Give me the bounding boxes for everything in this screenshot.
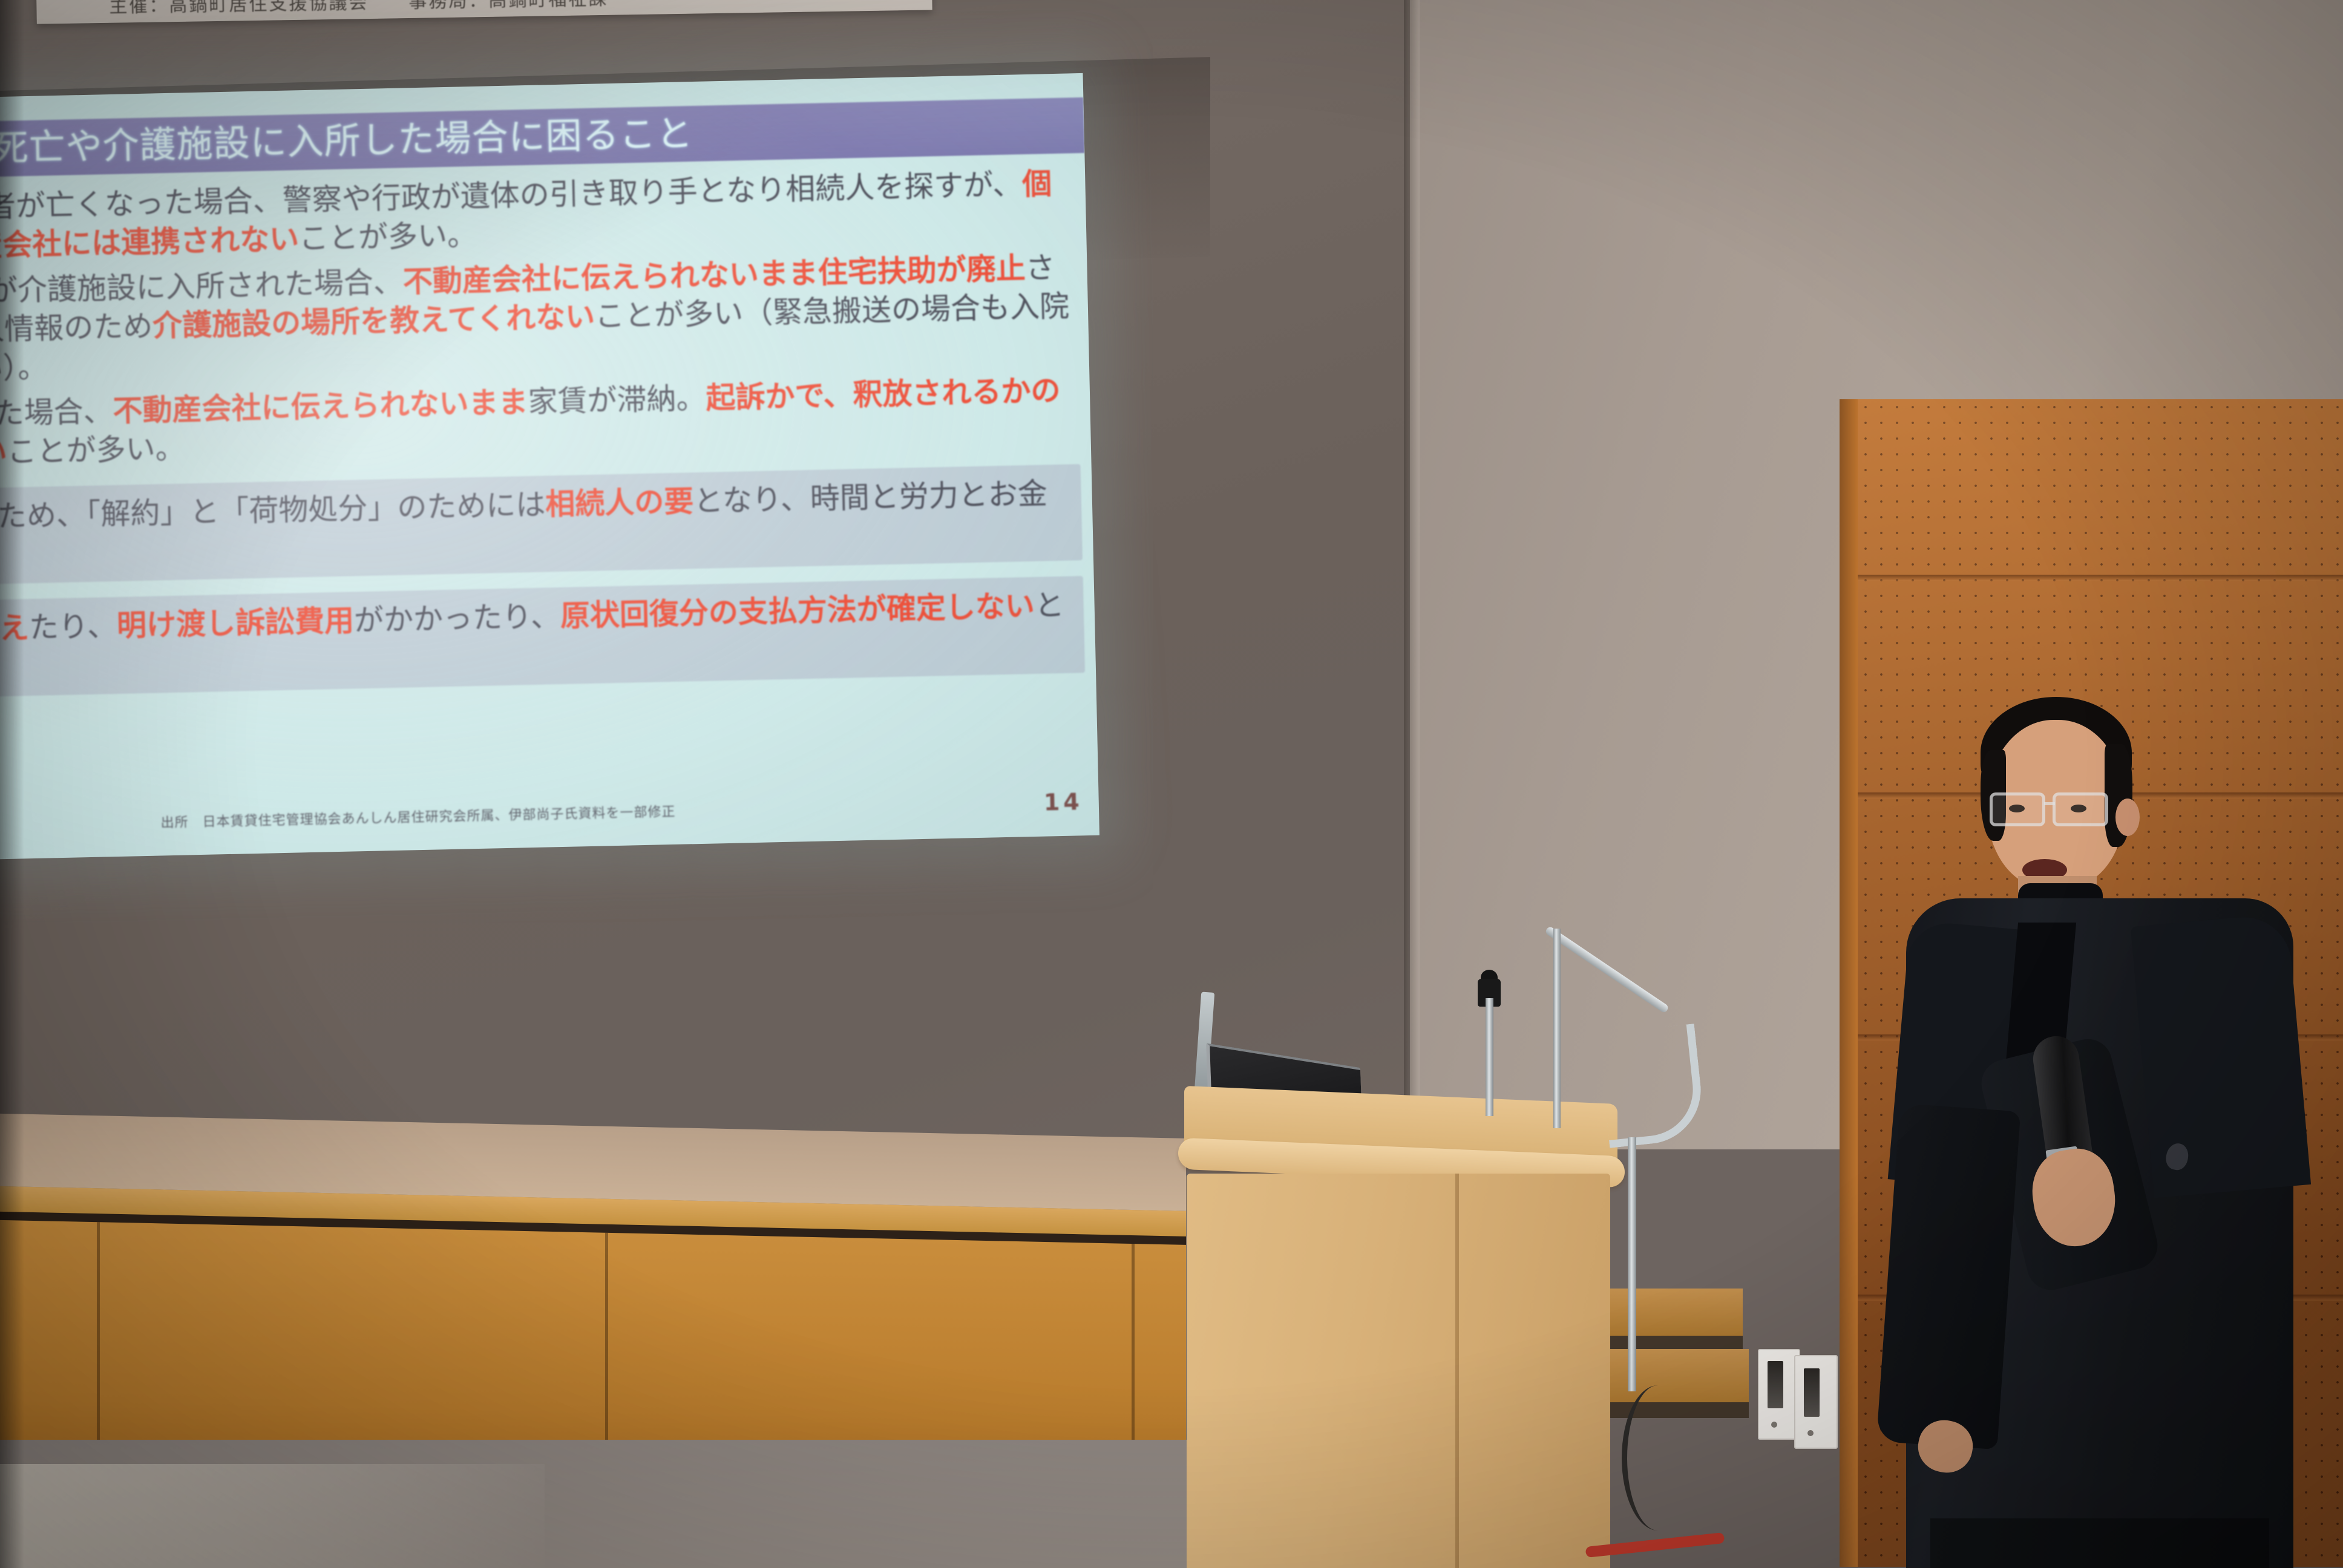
power-cable <box>1622 1385 1694 1530</box>
callout-text-highlight: 明け渡し訴訟費用 <box>116 604 354 644</box>
shoulder-right <box>2131 913 2311 1198</box>
slide-bullet: ●生活保護の高齢者が介護施設に入所された場合、不動産会社に伝えられないまま住宅扶… <box>0 249 1078 393</box>
slide-callout-band: ク 契約は相続されるため、「解約」と「荷物処分」のためには相続人の要となり、時間… <box>0 464 1083 590</box>
callout-text-highlight: 相続人の <box>545 485 664 521</box>
frame-edge-shadow <box>0 0 24 1568</box>
glasses-bridge <box>2044 802 2055 805</box>
callout-text-part: たり、 <box>28 609 117 645</box>
slide-bullet: で逮捕され拘留された場合、不動産会社に伝えられないまま家賃が滞納。起訴かで、釈放… <box>0 371 1080 478</box>
wall-plate-slot <box>1768 1361 1783 1408</box>
bullet-text: 家賃が滞納。 <box>528 381 706 419</box>
ear <box>2115 799 2140 836</box>
callout-text-part: 契約は相続されるため、「解約」と「荷物処分」のためには <box>0 487 546 538</box>
slide-source-note: 出所 日本賃貸住宅管理協会あんしん居住研究会所属、伊部尚子氏資料を一部修正 <box>160 801 676 832</box>
slide-footer: 出所 日本賃貸住宅管理協会あんしん居住研究会所属、伊部尚子氏資料を一部修正 <box>0 792 1099 841</box>
glasses-lens-left <box>1990 792 2045 826</box>
wood-wall-trim <box>1840 399 1860 1567</box>
callout-text-part: がかかったり、 <box>353 599 560 638</box>
podium <box>1171 1095 1631 1568</box>
callout-text: て家賃の保証が増えたり、明け渡し訴訟費用がかかったり、原状回復分の支払方法が確定… <box>0 586 1074 692</box>
handrail-lower-post <box>1628 1137 1636 1391</box>
bullet-text: ことが多い。 <box>299 218 477 256</box>
glasses-lens-right <box>2053 792 2108 826</box>
floor-light-reflection <box>0 1464 545 1568</box>
bullet-text-highlight: 不動産会社に伝えられないまま <box>113 385 528 428</box>
slide-callout-band: ク て家賃の保証が増えたり、明け渡し訴訟費用がかかったり、原状回復分の支払方法が… <box>0 576 1085 702</box>
presenter <box>1882 684 2318 1568</box>
bullet-text: 身寄りのない高齢者が亡くなった場合、警察や行政が遺体の引き取り手となり相続人を探… <box>0 167 1023 229</box>
wall-plate-screw <box>1807 1430 1814 1436</box>
wall-plate-slot <box>1804 1368 1820 1417</box>
callout-text-highlight: 原状回復分の支払方法が確定しない <box>560 589 1035 633</box>
podium-body <box>1187 1174 1610 1568</box>
event-banner-text: 主催：高鍋町居住支援協議会 事務局：高鍋町福祉課 <box>109 0 609 18</box>
projection-screen: 寄りのない方の死亡や介護施設に入所した場合に困ること ●身寄りのない高齢者が亡く… <box>0 73 1099 865</box>
handrail-post <box>1553 929 1561 1128</box>
callout-text-highlight: 要 <box>664 484 694 519</box>
callout-text: 契約は相続されるため、「解約」と「荷物処分」のためには相続人の要となり、時間と労… <box>0 474 1072 580</box>
lecture-hall-scene: 主催：高鍋町居住支援協議会 事務局：高鍋町福祉課 寄りのない方の死亡や介護施設に… <box>0 0 2343 1568</box>
wall-plate[interactable] <box>1794 1355 1838 1449</box>
legs <box>1930 1518 2269 1568</box>
bullet-text: ことが多い。 <box>7 431 185 469</box>
wall-plate-screw <box>1771 1422 1777 1428</box>
slide-page-number: 14 <box>1043 788 1083 815</box>
slide-body: ●身寄りのない高齢者が亡くなった場合、警察や行政が遺体の引き取り手となり相続人を… <box>0 164 1096 708</box>
arm-left <box>1876 1103 2021 1450</box>
stage-panel-seam <box>97 1222 100 1476</box>
slide-title: 寄りのない方の死亡や介護施設に入所した場合に困ること <box>0 116 693 173</box>
wall-corner-edge <box>1404 0 1420 1149</box>
microphone-stand-pole <box>1486 998 1493 1116</box>
bullet-text-highlight: 介護施設の場所を教えてくれない <box>152 299 595 344</box>
podium-body-seam <box>1455 1174 1459 1568</box>
